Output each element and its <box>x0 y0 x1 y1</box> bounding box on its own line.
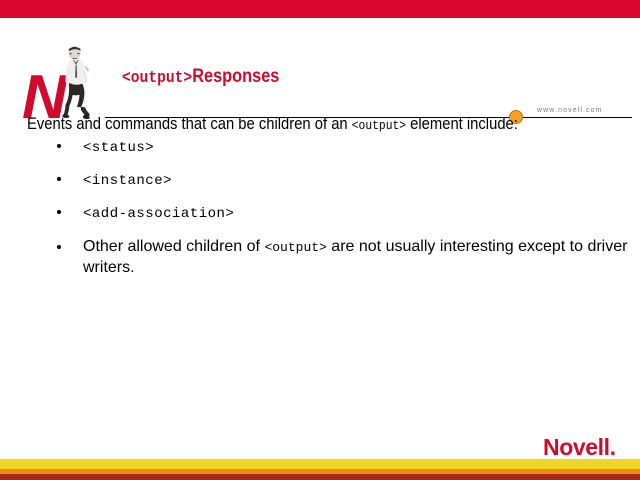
list-item-code: <instance> <box>83 173 172 189</box>
list-item-code: <status> <box>83 140 154 156</box>
title-code-token: <output> <box>122 69 192 88</box>
list-item-code: <add-association> <box>83 206 234 222</box>
list-item: <instance> <box>0 171 640 190</box>
top-red-banner <box>0 0 640 18</box>
standing-person-photo <box>56 44 96 122</box>
slide-header: N <output>Responses <box>0 18 640 110</box>
footer-stripe-yellow <box>0 459 640 469</box>
list-item: <add-association> <box>0 204 640 223</box>
lead-code-token: <output> <box>352 118 406 133</box>
bullet-dot-icon <box>57 177 61 181</box>
page-title: <output>Responses <box>122 65 279 91</box>
lead-before: Events and commands that can be children… <box>27 114 352 133</box>
lead-after: element include: <box>406 114 518 133</box>
lead-paragraph: Events and commands that can be children… <box>27 113 558 136</box>
list-item-prose: Other allowed children of <output> are n… <box>83 238 627 276</box>
presentation-slide: N <output>Responses <box>0 0 640 480</box>
title-text: Responses <box>192 66 279 87</box>
bullet-list: <status> <instance> <add-association> Ot… <box>0 138 640 278</box>
bullet-dot-icon <box>57 210 61 214</box>
prose-before: Other allowed children of <box>83 238 264 255</box>
bullet-dot-icon <box>57 245 61 249</box>
footer-stripe-dark <box>0 474 640 480</box>
bullet-dot-icon <box>57 144 61 148</box>
prose-code-token: <output> <box>264 240 326 255</box>
list-item: <status> <box>0 138 640 157</box>
novell-footer-logo: Novell. <box>543 434 616 460</box>
list-item: Other allowed children of <output> are n… <box>0 237 640 278</box>
